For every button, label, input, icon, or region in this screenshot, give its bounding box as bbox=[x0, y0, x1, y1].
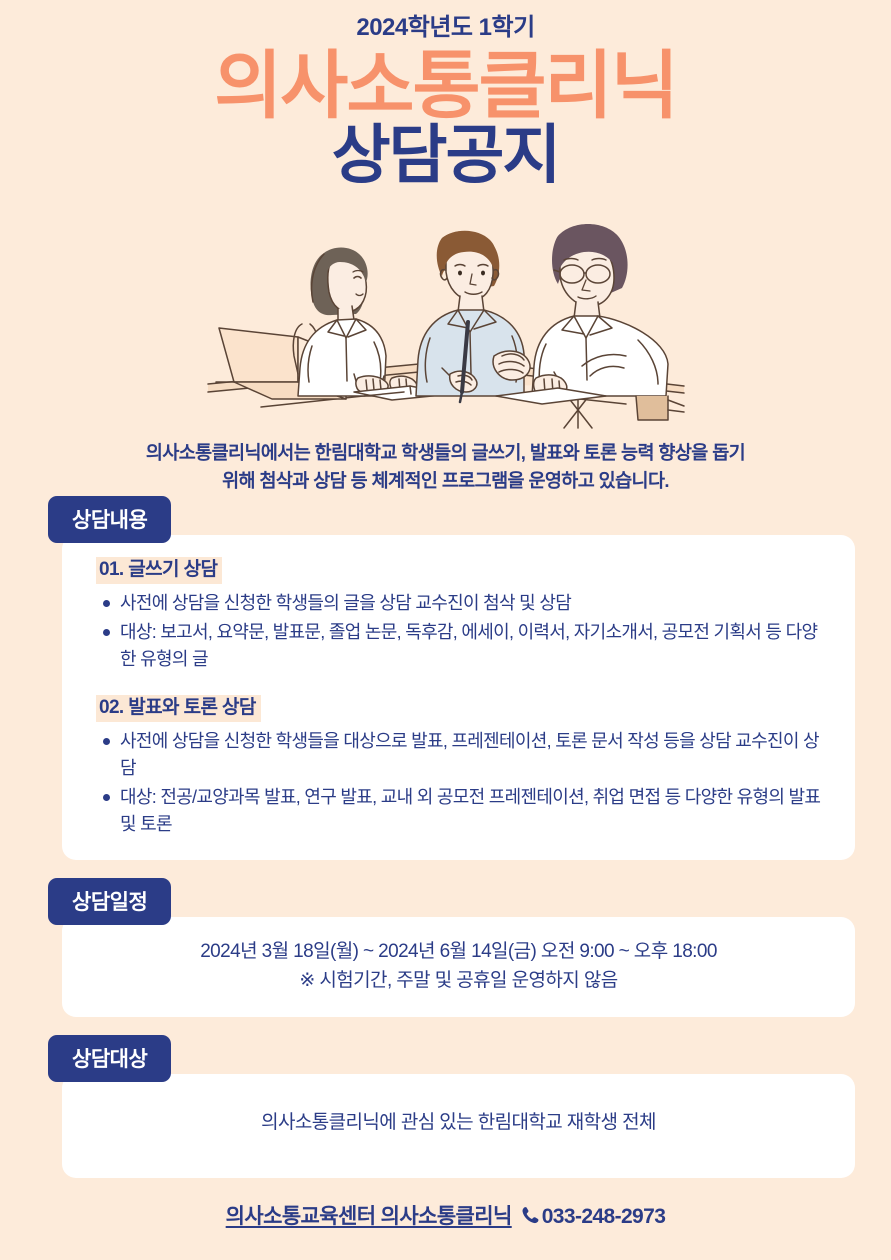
list-item: 사전에 상담을 신청한 학생들의 글을 상담 교수진이 첨삭 및 상담 bbox=[96, 590, 827, 617]
consult-item-01-bullets: 사전에 상담을 신청한 학생들의 글을 상담 교수진이 첨삭 및 상담 대상: … bbox=[96, 590, 827, 673]
consult-item-01-heading: 01. 글쓰기 상담 bbox=[96, 557, 222, 584]
consult-item-02-bullets: 사전에 상담을 신청한 학생들을 대상으로 발표, 프레젠테이션, 토론 문서 … bbox=[96, 728, 827, 838]
card-consult-target: 의사소통클리닉에 관심 있는 한림대학교 재학생 전체 bbox=[62, 1074, 855, 1177]
intro-paragraph: 의사소통클리닉에서는 한림대학교 학생들의 글쓰기, 발표와 토론 능력 향상을… bbox=[66, 439, 826, 496]
section-consult-target: 상담대상 의사소통클리닉에 관심 있는 한림대학교 재학생 전체 bbox=[0, 1035, 891, 1177]
badge-consult-content: 상담내용 bbox=[48, 496, 171, 543]
list-item: 사전에 상담을 신청한 학생들을 대상으로 발표, 프레젠테이션, 토론 문서 … bbox=[96, 728, 827, 782]
consult-content-body: 01. 글쓰기 상담 사전에 상담을 신청한 학생들의 글을 상담 교수진이 첨… bbox=[62, 535, 855, 860]
card-consult-schedule: 2024년 3월 18일(월) ~ 2024년 6월 14일(금) 오전 9:0… bbox=[62, 917, 855, 1018]
intro-line-1: 의사소통클리닉에서는 한림대학교 학생들의 글쓰기, 발표와 토론 능력 향상을… bbox=[66, 439, 826, 468]
card-consult-content: 01. 글쓰기 상담 사전에 상담을 신청한 학생들의 글을 상담 교수진이 첨… bbox=[62, 535, 855, 860]
badge-consult-target: 상담대상 bbox=[48, 1035, 171, 1082]
section-spacer-2 bbox=[0, 1017, 891, 1035]
section-consult-content: 상담내용 01. 글쓰기 상담 사전에 상담을 신청한 학생들의 글을 상담 교… bbox=[0, 496, 891, 860]
content-block-spacer bbox=[96, 675, 827, 695]
consult-target-body: 의사소통클리닉에 관심 있는 한림대학교 재학생 전체 bbox=[62, 1074, 855, 1177]
section-consult-schedule: 상담일정 2024년 3월 18일(월) ~ 2024년 6월 14일(금) 오… bbox=[0, 878, 891, 1018]
consult-schedule-body: 2024년 3월 18일(월) ~ 2024년 6월 14일(금) 오전 9:0… bbox=[62, 917, 855, 1018]
schedule-period: 2024년 3월 18일(월) ~ 2024년 6월 14일(금) 오전 9:0… bbox=[86, 937, 831, 966]
phone-icon bbox=[520, 1205, 540, 1231]
consult-item-02-heading: 02. 발표와 토론 상담 bbox=[96, 695, 261, 722]
poster-root: 2024학년도 1학기 의사소통클리닉 상담공지 bbox=[0, 0, 891, 1260]
page-subtitle: 상담공지 bbox=[0, 122, 891, 189]
intro-line-2: 위해 첨삭과 상담 등 체계적인 프로그램을 운영하고 있습니다. bbox=[66, 467, 826, 496]
consult-item-01: 01. 글쓰기 상담 사전에 상담을 신청한 학생들의 글을 상담 교수진이 첨… bbox=[96, 557, 827, 673]
consult-item-02: 02. 발표와 토론 상담 사전에 상담을 신청한 학생들을 대상으로 발표, … bbox=[96, 695, 827, 838]
list-item: 대상: 전공/교양과목 발표, 연구 발표, 교내 외 공모전 프레젠테이션, … bbox=[96, 784, 827, 838]
footer-contact: 의사소통교육센터 의사소통클리닉033-248-2973 bbox=[0, 1178, 891, 1231]
target-description: 의사소통클리닉에 관심 있는 한림대학교 재학생 전체 bbox=[86, 1108, 831, 1137]
schedule-note: ※ 시험기간, 주말 및 공휴일 운영하지 않음 bbox=[86, 966, 831, 995]
eyebrow-semester: 2024학년도 1학기 bbox=[0, 0, 891, 43]
badge-consult-schedule: 상담일정 bbox=[48, 878, 171, 925]
section-spacer-1 bbox=[0, 860, 891, 878]
page-title: 의사소통클리닉 bbox=[0, 47, 891, 125]
footer-phone-number: 033-248-2973 bbox=[542, 1205, 666, 1228]
consultation-illustration bbox=[206, 196, 686, 431]
footer-organization: 의사소통교육센터 의사소통클리닉 bbox=[226, 1205, 512, 1228]
list-item: 대상: 보고서, 요약문, 발표문, 졸업 논문, 독후감, 에세이, 이력서,… bbox=[96, 619, 827, 673]
